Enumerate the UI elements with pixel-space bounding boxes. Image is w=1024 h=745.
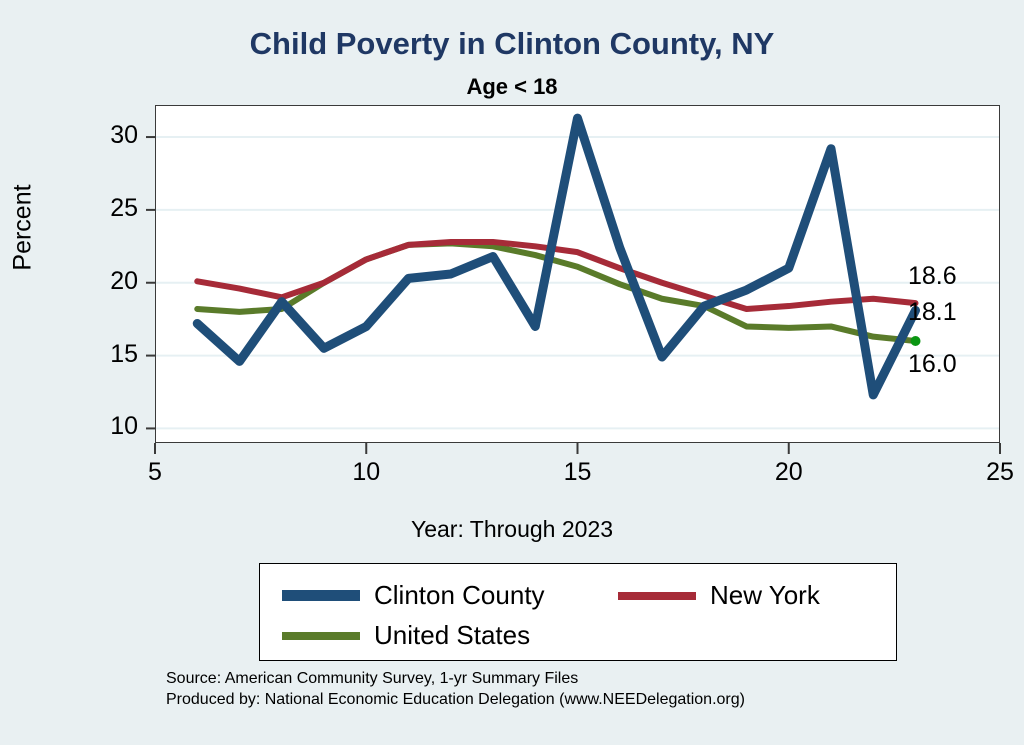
series-line: [197, 118, 915, 395]
y-tick-label: 15: [68, 340, 138, 369]
series-line: [197, 242, 915, 309]
end-label-new-york: 18.6: [908, 262, 957, 291]
y-tick-label: 10: [68, 412, 138, 441]
y-tick-label: 20: [68, 267, 138, 296]
legend-item-clinton-county: Clinton County: [282, 580, 545, 611]
end-point-markers: [911, 336, 921, 346]
legend-label-united-states: United States: [374, 620, 530, 651]
legend-label-new-york: New York: [710, 580, 820, 611]
end-label-clinton-county: 18.1: [908, 298, 957, 327]
x-tick-label: 5: [120, 458, 190, 487]
legend-label-clinton-county: Clinton County: [374, 580, 545, 611]
x-tick-label: 20: [754, 458, 824, 487]
legend-item-new-york: New York: [618, 580, 820, 611]
end-label-united-states: 16.0: [908, 350, 957, 379]
end-point-marker-united-states: [911, 336, 921, 346]
chart-footer: Source: American Community Survey, 1-yr …: [166, 668, 745, 710]
footer-source: Source: American Community Survey, 1-yr …: [166, 668, 745, 689]
y-tick-label: 30: [68, 121, 138, 150]
legend-swatch-clinton-county: [282, 590, 360, 601]
legend-item-united-states: United States: [282, 620, 530, 651]
chart-figure: Child Poverty in Clinton County, NY Age …: [0, 0, 1024, 745]
legend-swatch-united-states: [282, 632, 360, 640]
chart-legend: Clinton County New York United States: [259, 563, 897, 661]
x-tick-label: 10: [331, 458, 401, 487]
data-series-group: [197, 118, 915, 395]
x-tick-label: 25: [965, 458, 1024, 487]
legend-swatch-new-york: [618, 592, 696, 600]
footer-produced-by: Produced by: National Economic Education…: [166, 689, 745, 710]
y-tick-label: 25: [68, 194, 138, 223]
x-tick-label: 15: [543, 458, 613, 487]
